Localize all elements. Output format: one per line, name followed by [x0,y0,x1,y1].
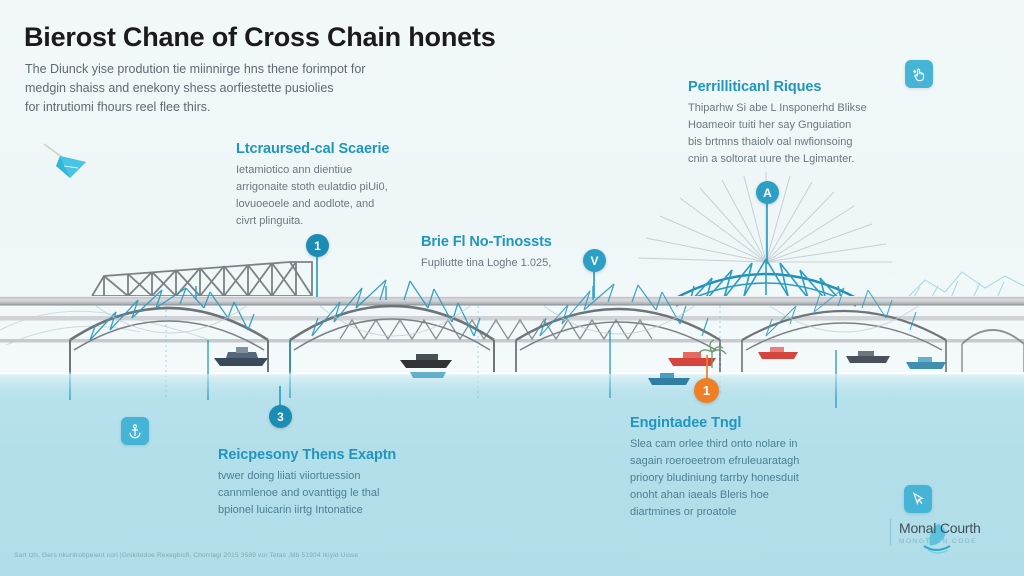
brand-block: Monal Courth MONGTLPN CODE [890,519,981,545]
callout-title: Reicpesony Thens Exaptn [218,447,428,463]
flag-pennant-icon [40,140,92,182]
subtitle-line: for intrutiomi fhours reel flee thirs. [25,98,455,117]
callout-line: diartmines or proatole [630,504,840,521]
hand-pointer-icon[interactable] [905,60,933,88]
badge-stem [706,355,708,379]
callout-title: Perrilliticanl Riques [688,79,888,95]
callout-line: arrigonaite stoth eulatdio piUi0, [236,179,436,196]
callout-line: cannmlenoe and ovanttigg le thal [218,485,428,502]
brand-divider [890,519,891,545]
callout-line: bpionel luicarin iirtg Intonatice [218,502,428,519]
callout-body: Slea cam orlee third onto nolare in saga… [630,436,840,521]
marker-badge-1[interactable]: 1 [306,234,329,257]
callout-bottom-left: Reicpesony Thens Exaptn tvwer doing liia… [218,447,428,519]
brand-tagline: MONGTLPN CODE [899,538,981,545]
callout-body: tvwer doing liiati viiortuession cannmle… [218,468,428,519]
callout-line: Thiparhw Si abe L Insponerhd Blikse [688,100,888,117]
callout-body: Ietamiotico ann dientiue arrigonaite sto… [236,162,436,230]
callout-line: cnin a soltorat uure the Lgimanter. [688,151,888,168]
marker-badge-5[interactable]: 1 [694,378,719,403]
callout-top-left: Ltcraursed-cal Scaerie Ietamiotico ann d… [236,141,436,230]
callout-title: Brie Fl No-Tinossts [421,234,636,250]
callout-line: bis brtmns thaiolv oal nwfionsoing [688,134,888,151]
callout-line: onoht ahan iaeals Bleris hoe [630,487,840,504]
callout-line: sagain roeroeetrom efruleuaratagh [630,453,840,470]
page-subtitle: The Diunck yise prodution tie miinnirge … [25,60,455,117]
callout-line: Hoameoir tuiti her say Gnguiation [688,117,888,134]
callout-line: Ietamiotico ann dientiue [236,162,436,179]
badge-stem [279,386,281,406]
callout-line: civrt plinguita. [236,213,436,230]
marker-badge-3[interactable]: 3 [269,405,292,428]
callout-title: Ltcraursed-cal Scaerie [236,141,436,157]
subtitle-line: The Diunck yise prodution tie miinnirge … [25,60,455,79]
marker-badge-2[interactable]: V [583,249,606,272]
infographic-poster: Bierost Chane of Cross Chain honets The … [0,0,1024,576]
badge-stem [766,204,768,264]
subtitle-line: medgin shaiss and enekony shess aorfiest… [25,79,455,98]
badge-stem [316,257,318,297]
callout-bottom-right: Engintadee Tngl Slea cam orlee third ont… [630,415,840,521]
marker-badge-4[interactable]: A [756,181,779,204]
badge-stem [593,272,595,298]
callout-line: tvwer doing liiati viiortuession [218,468,428,485]
anchor-icon[interactable] [121,417,149,445]
callout-body: Thiparhw Si abe L Insponerhd Blikse Hoam… [688,100,888,168]
callout-title: Engintadee Tngl [630,415,840,431]
callout-line: prioory bludiniung tarrby honesduit [630,470,840,487]
brand-name: Monal Courth [899,520,981,536]
callout-line: Slea cam orlee third onto nolare in [630,436,840,453]
callout-line: lovuoeoele and aodlote, and [236,196,436,213]
page-title: Bierost Chane of Cross Chain honets [24,22,544,53]
footer-caption: Sart tzh, Gers nkuritrotipeient cori |Gn… [14,551,484,561]
callout-top-right: Perrilliticanl Riques Thiparhw Si abe L … [688,79,888,168]
cursor-arrow-icon[interactable] [904,485,932,513]
